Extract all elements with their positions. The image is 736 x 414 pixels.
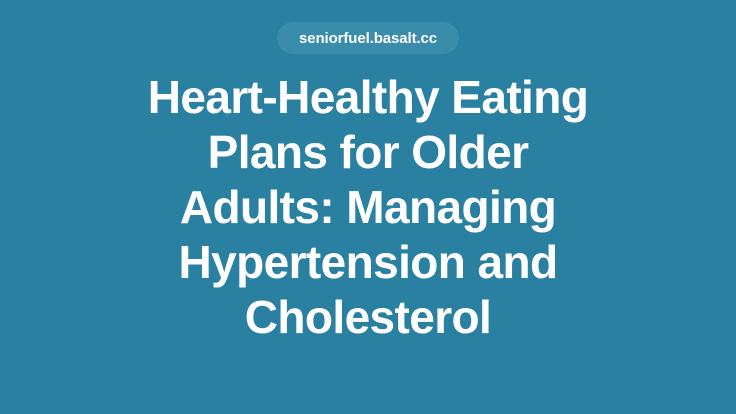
domain-pill-label: seniorfuel.basalt.cc bbox=[299, 31, 437, 46]
page-title: Heart-Healthy Eating Plans for Older Adu… bbox=[48, 70, 688, 345]
social-share-card: seniorfuel.basalt.cc Heart-Healthy Eatin… bbox=[0, 0, 736, 414]
title-line-2: Plans for Older bbox=[208, 125, 529, 180]
title-line-3: Adults: Managing bbox=[180, 180, 556, 235]
title-line-5: Cholesterol bbox=[245, 290, 491, 345]
title-line-1: Heart-Healthy Eating bbox=[148, 70, 588, 125]
title-line-4: Hypertension and bbox=[179, 235, 558, 290]
domain-pill: seniorfuel.basalt.cc bbox=[277, 22, 459, 54]
